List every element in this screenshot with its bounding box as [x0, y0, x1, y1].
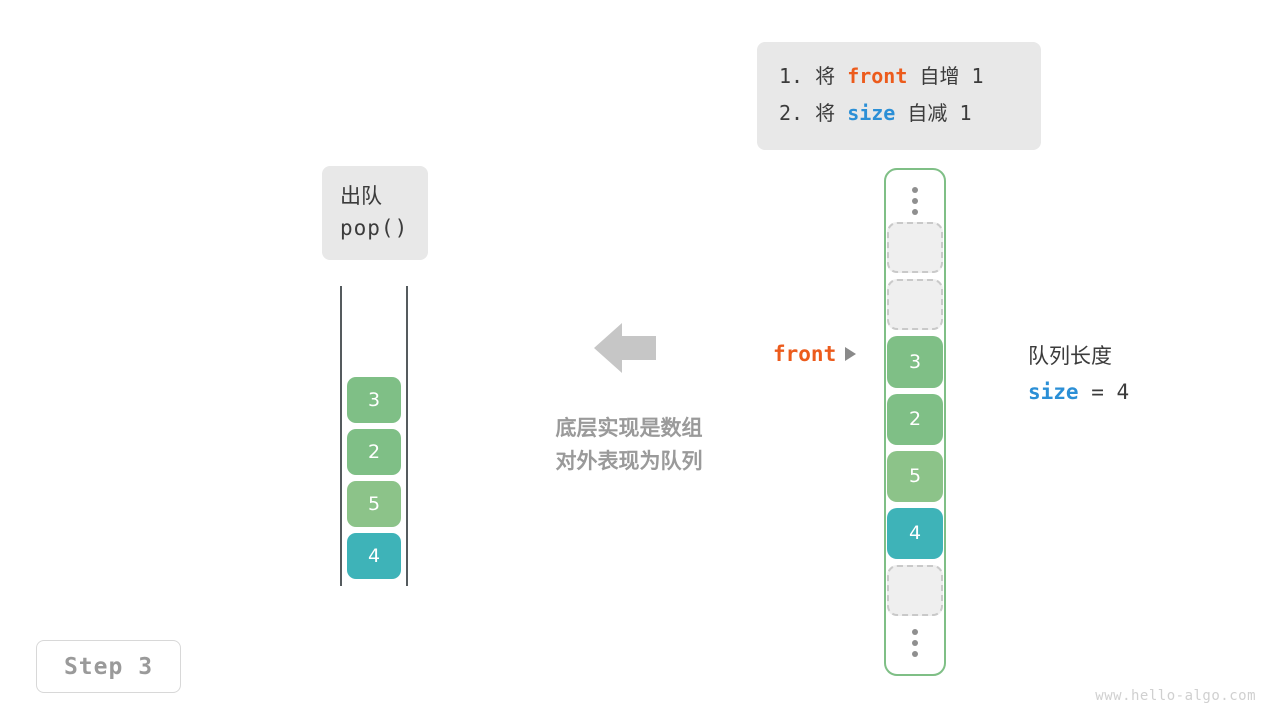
flow-arrow-left-icon — [594, 321, 656, 379]
size-info-expression: size = 4 — [1028, 377, 1129, 407]
instruction-callout: 1. 将 front 自增 1 2. 将 size 自减 1 — [757, 42, 1041, 150]
instruction-line-2-keyword: size — [847, 101, 895, 125]
watermark: www.hello-algo.com — [1095, 688, 1256, 704]
array-slot-filled: 4 — [887, 508, 943, 559]
array-slot-empty — [887, 565, 943, 616]
queue-rail-left — [340, 286, 342, 586]
top-ellipsis-icon — [912, 179, 918, 222]
instruction-line-2-verb: 将 — [815, 101, 835, 125]
abstract-queue-cell: 4 — [347, 533, 401, 579]
implementation-caption: 底层实现是数组 对外表现为队列 — [529, 412, 729, 478]
pop-operation-box: 出队 pop() — [322, 166, 428, 260]
size-value: 4 — [1117, 380, 1130, 404]
array-slot-empty — [887, 279, 943, 330]
instruction-line-1-verb: 将 — [815, 64, 835, 88]
abstract-queue: 3 2 5 4 — [340, 286, 412, 586]
abstract-queue-cell: 2 — [347, 429, 401, 475]
arrow-right-icon — [845, 347, 856, 361]
pop-operation-cn-label: 出队 — [340, 180, 410, 212]
instruction-line-1-keyword: front — [847, 64, 907, 88]
size-equals-sign: = — [1091, 380, 1104, 404]
instruction-line-1-action: 自增 — [919, 64, 959, 88]
array-slot-filled: 3 — [887, 336, 943, 387]
front-pointer-label: front — [773, 342, 836, 366]
queue-rail-right — [406, 286, 408, 586]
abstract-queue-cell: 5 — [347, 481, 401, 527]
step-badge: Step 3 — [36, 640, 181, 693]
implementation-caption-line-1: 底层实现是数组 — [529, 412, 729, 445]
instruction-line-2: 2. 将 size 自减 1 — [779, 95, 1019, 132]
instruction-line-2-action: 自减 — [907, 101, 947, 125]
abstract-queue-cell: 3 — [347, 377, 401, 423]
front-pointer: front — [773, 342, 856, 366]
implementation-caption-line-2: 对外表现为队列 — [529, 445, 729, 478]
array-slot-empty — [887, 222, 943, 273]
watermark-text: www.hello-algo.com — [1095, 688, 1256, 704]
diagram-canvas: 1. 将 front 自增 1 2. 将 size 自减 1 出队 pop() … — [0, 0, 1280, 720]
array-slot-filled: 2 — [887, 394, 943, 445]
pop-operation-code-label: pop() — [340, 212, 410, 244]
step-badge-label: Step 3 — [64, 654, 153, 680]
instruction-line-1-index: 1. — [779, 64, 803, 88]
array-slot-filled: 5 — [887, 451, 943, 502]
abstract-queue-cells: 3 2 5 4 — [347, 377, 401, 586]
size-info-cn-label: 队列长度 — [1028, 341, 1129, 371]
instruction-line-2-index: 2. — [779, 101, 803, 125]
size-info: 队列长度 size = 4 — [1028, 341, 1129, 407]
size-variable-name: size — [1028, 380, 1079, 404]
instruction-line-1-amount: 1 — [972, 64, 984, 88]
instruction-line-2-amount: 1 — [959, 101, 971, 125]
bottom-ellipsis-icon — [912, 622, 918, 665]
instruction-line-1: 1. 将 front 自增 1 — [779, 58, 1019, 95]
array-container: 3 2 5 4 — [884, 168, 946, 676]
